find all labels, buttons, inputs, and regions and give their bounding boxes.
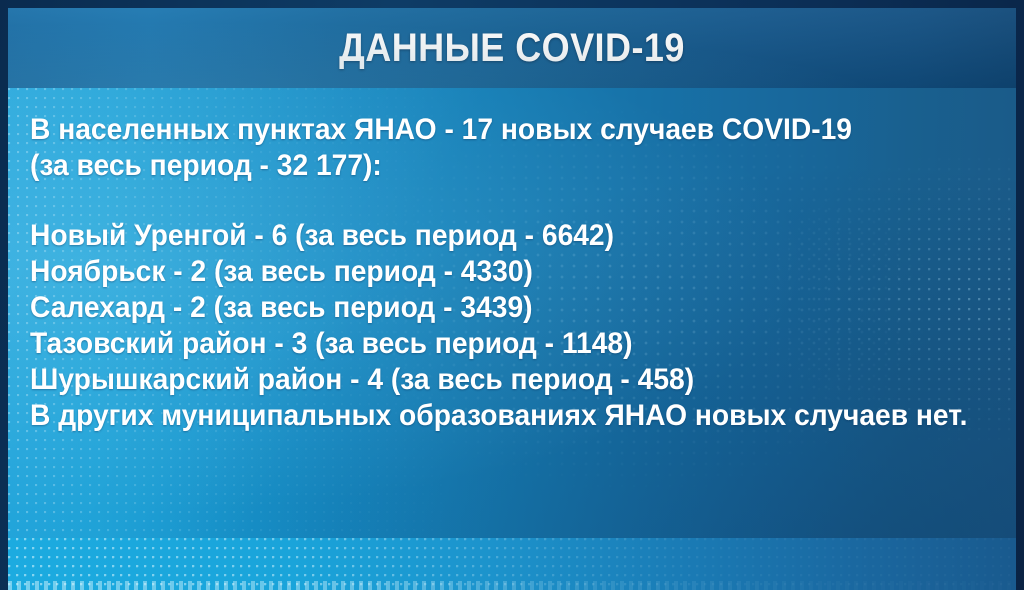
bottom-band-dash-strip: [8, 581, 1016, 590]
location-line-novy-urengoy: Новый Уренгой - 6 (за весь период - 6642…: [30, 218, 938, 254]
intro-line-1: В населенных пунктах ЯНАО - 17 новых слу…: [30, 112, 938, 148]
paragraph-spacer: [30, 184, 996, 218]
location-line-tazovsky-rayon: Тазовский район - 3 (за весь период - 11…: [30, 326, 938, 362]
bottom-accent-band: [8, 538, 1016, 590]
page-title: ДАННЫЕ COVID-19: [58, 24, 965, 72]
footnote-line: В других муниципальных образованиях ЯНАО…: [30, 398, 938, 434]
text-content: В населенных пунктах ЯНАО - 17 новых слу…: [30, 112, 996, 434]
body-panel: В населенных пунктах ЯНАО - 17 новых слу…: [8, 88, 1016, 590]
location-line-shuryshkarsky-rayon: Шурышкарский район - 4 (за весь период -…: [30, 362, 938, 398]
location-line-salekhard: Салехард - 2 (за весь период - 3439): [30, 290, 938, 326]
location-line-noyabrsk: Ноябрьск - 2 (за весь период - 4330): [30, 254, 938, 290]
header-band: ДАННЫЕ COVID-19: [8, 8, 1016, 88]
covid-info-slide: ДАННЫЕ COVID-19 В населенных пунктах ЯНА…: [0, 0, 1024, 590]
intro-line-2: (за весь период - 32 177):: [30, 148, 938, 184]
